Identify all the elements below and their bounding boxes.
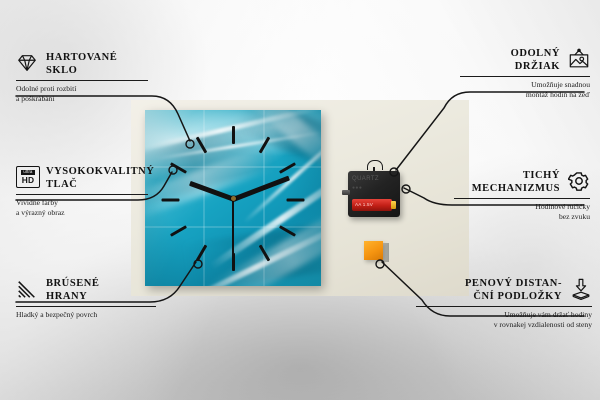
feature-desc: Vivídne farby a výrazný obraz	[16, 198, 148, 217]
feature-title: TICHÝ MECHANIZMUS	[472, 170, 560, 195]
feature-tempered-glass: HARTOVANÉ SKLO Odolné proti rozbití a po…	[16, 52, 148, 103]
feature-divider	[416, 306, 592, 307]
connector-dot-holder	[390, 168, 398, 176]
feature-title: ODOLNÝ DRŽIAK	[511, 48, 560, 73]
feature-title: HARTOVANÉ SKLO	[46, 52, 117, 77]
ultra-hd-icon: ultra HD	[16, 166, 38, 188]
feature-desc: Odolné proti rozbití a poškrábání	[16, 84, 148, 103]
connector-holder	[396, 92, 584, 170]
feature-desc: Umožňuje vám držať hodiny v rovnakej vzd…	[416, 310, 592, 329]
ground-edges-icon	[16, 278, 38, 300]
ultra-hd-icon-main-label: HD	[22, 176, 35, 184]
feature-desc: Hodinové ručičky bez zvuku	[454, 202, 590, 221]
feature-foam-spacers: PENOVÝ DISTAN- ČNÍ PODLOŽKY Umožňuje vám…	[416, 278, 592, 329]
feature-title: BRÚSENÉ HRANY	[46, 278, 99, 303]
feature-ground-edges: BRÚSENÉ HRANY Hladký a bezpečný povrch	[16, 278, 156, 320]
feature-durable-holder: ODOLNÝ DRŽIAK Umožňuje snadnou montáž ho…	[460, 48, 590, 99]
connector-dot-foam	[376, 260, 384, 268]
feature-divider	[16, 80, 148, 81]
feature-hq-print: ultra HD VYSOKOKVALITNÝ TLAČ Vivídne far…	[16, 166, 148, 217]
feature-divider	[460, 76, 590, 77]
feature-title: PENOVÝ DISTAN- ČNÍ PODLOŽKY	[465, 278, 562, 303]
feature-divider	[454, 198, 590, 199]
feature-desc: Umožňuje snadnou montáž hodin na zeď	[460, 80, 590, 99]
feature-silent-mechanism: TICHÝ MECHANIZMUS Hodinové ručičky bez z…	[454, 170, 590, 221]
gear-icon	[568, 170, 590, 192]
feature-divider	[16, 194, 148, 195]
feature-divider	[16, 306, 156, 307]
foam-pad-icon	[570, 278, 592, 300]
diamond-icon	[16, 52, 38, 74]
infographic-canvas: QUARTZ ●●● AA 1.5V	[0, 0, 600, 400]
feature-title: VYSOKOKVALITNÝ TLAČ	[46, 166, 154, 191]
picture-hanger-icon	[568, 48, 590, 70]
connector-dot-print	[169, 166, 177, 174]
feature-desc: Hladký a bezpečný povrch	[16, 310, 156, 320]
